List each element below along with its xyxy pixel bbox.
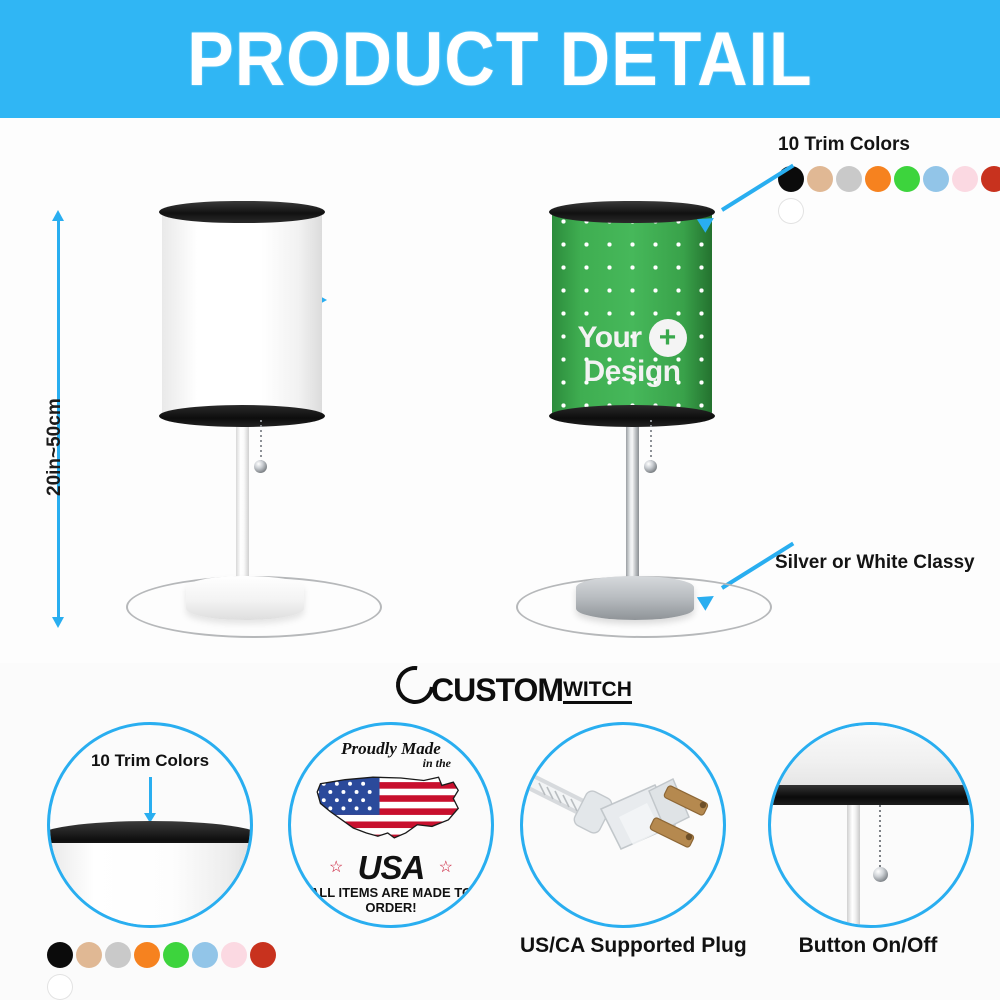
brand-name-secondary: WITCH — [563, 679, 632, 704]
lamp-white — [100, 198, 400, 648]
lamp-base-white — [186, 576, 304, 620]
usa-word: USA — [291, 849, 491, 887]
lamp-shade-green: Your + Design — [552, 210, 712, 415]
trim-swatch-green[interactable] — [894, 166, 920, 192]
trim-colors-panel: 10 Trim Colors — [778, 134, 1000, 230]
pull-chain-closeup — [879, 805, 881, 867]
trim-swatch-dark-red[interactable] — [250, 942, 276, 968]
pull-chain-silver — [650, 420, 652, 462]
feature-trim-inner-label: 10 Trim Colors — [50, 751, 250, 771]
trim-swatch-tan[interactable] — [76, 942, 102, 968]
feature-circle-trim: 10 Trim Colors — [47, 722, 253, 928]
trim-swatch-yellow[interactable] — [807, 198, 833, 224]
feature-circle-plug — [520, 722, 726, 928]
page-title: PRODUCT DETAIL — [187, 16, 812, 103]
pull-chain-bead-white — [254, 460, 267, 473]
trim-swatch-black[interactable] — [47, 942, 73, 968]
trim-band-closeup-2 — [768, 785, 974, 805]
shade-surface-green — [552, 210, 712, 415]
trim-swatch-light-blue[interactable] — [923, 166, 949, 192]
brand-logo: CUSTOM WITCH — [396, 666, 632, 706]
usa-star-right-icon: ☆ — [439, 857, 453, 877]
feature-plug: US/CA Supported Plug — [520, 722, 726, 928]
feature-made-in-usa: Proudly Made in the — [288, 722, 494, 928]
usa-subtext: ALL ITEMS ARE MADE TO ORDER! — [291, 885, 491, 915]
feature-button-label: Button On/Off — [768, 934, 968, 958]
trim-down-arrow-shaft — [149, 777, 152, 815]
feature-circle-usa: Proudly Made in the — [288, 722, 494, 928]
pull-chain-bead-closeup — [873, 867, 888, 882]
feature-plug-label: US/CA Supported Plug — [520, 934, 720, 958]
trim-swatch-light-blue[interactable] — [192, 942, 218, 968]
trim-color-swatches-bottom[interactable] — [47, 942, 287, 1006]
trim-swatch-pink[interactable] — [952, 166, 978, 192]
trim-swatch-white[interactable] — [47, 974, 73, 1000]
usa-proudly-made-text: Proudly Made — [291, 739, 491, 759]
feature-trim-colors: 10 Trim Colors — [47, 722, 287, 1006]
trim-swatch-orange[interactable] — [865, 166, 891, 192]
product-detail-page: PRODUCT DETAIL 20in~50cm 7in~18cm — [0, 0, 1000, 1000]
lamp-pole-silver — [626, 420, 639, 596]
power-plug-icon — [523, 725, 723, 925]
usa-map-flag-icon — [309, 769, 473, 851]
trim-swatch-gray[interactable] — [836, 166, 862, 192]
shade-trim-bottom-green — [549, 405, 715, 427]
feature-circle-button — [768, 722, 974, 928]
trim-swatch-pink[interactable] — [221, 942, 247, 968]
trim-color-swatches[interactable] — [778, 166, 1000, 230]
shade-bottom-closeup — [768, 722, 974, 785]
trim-callout-arrow — [700, 186, 810, 236]
lamp-base-silver — [576, 576, 694, 620]
main-stage: 20in~50cm 7in~18cm — [0, 118, 1000, 663]
lamp-pole-white — [236, 420, 249, 596]
shade-trim-bottom — [159, 405, 325, 427]
trim-swatch-green[interactable] — [163, 942, 189, 968]
height-dimension-label: 20in~50cm — [44, 398, 66, 496]
lamp-pole-closeup — [847, 805, 860, 928]
trim-swatch-tan[interactable] — [807, 166, 833, 192]
shade-trim-top — [159, 201, 325, 223]
pull-chain-bead-silver — [644, 460, 657, 473]
shade-body-closeup — [47, 843, 253, 928]
trim-swatch-yellow[interactable] — [76, 974, 102, 1000]
trim-swatch-gray[interactable] — [105, 942, 131, 968]
trim-colors-heading: 10 Trim Colors — [778, 134, 1000, 156]
trim-swatch-dark-red[interactable] — [981, 166, 1000, 192]
header-banner: PRODUCT DETAIL — [0, 0, 1000, 118]
trim-swatch-orange[interactable] — [134, 942, 160, 968]
brand-name-primary: CUSTOM — [431, 674, 563, 706]
lamp-shade-white — [162, 210, 322, 415]
pull-chain-white — [260, 420, 262, 462]
shade-trim-top-green — [549, 201, 715, 223]
feature-button: Button On/Off — [768, 722, 974, 928]
shade-surface — [162, 210, 322, 415]
